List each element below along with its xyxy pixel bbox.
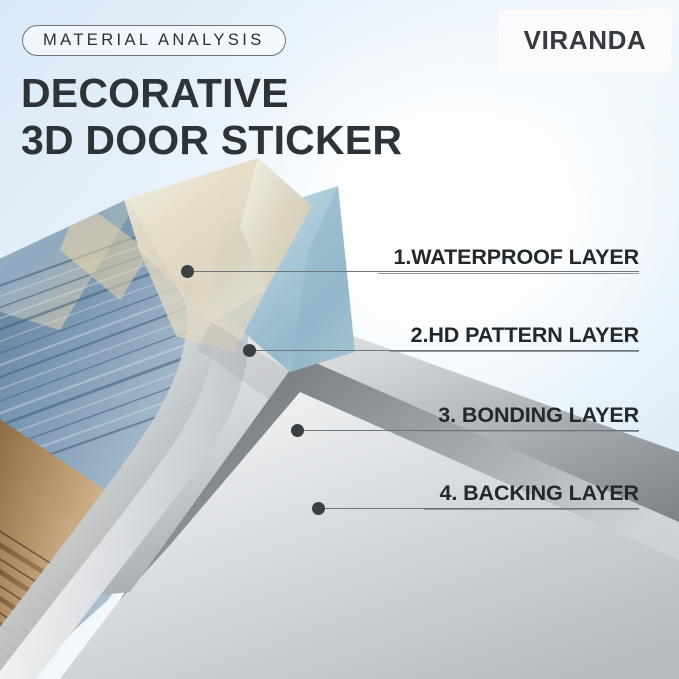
brand-logo: VIRANDA — [500, 11, 670, 70]
callout-rule-4 — [424, 509, 639, 510]
callout-rule-2 — [390, 351, 639, 352]
callout-label-3: 3. BONDING LAYER — [438, 403, 639, 428]
callout-rule-3 — [416, 431, 639, 432]
eyebrow-badge: MATERIAL ANALYSIS — [22, 25, 286, 56]
callout-waterproof-layer: 1.WATERPROOF LAYER — [378, 240, 639, 274]
leader-line-4 — [325, 508, 639, 509]
callout-hd-pattern-layer: 2.HD PATTERN LAYER — [390, 318, 639, 352]
leader-line-3 — [304, 430, 639, 431]
poster-canvas: MATERIAL ANALYSIS DECORATIVE 3D DOOR STI… — [0, 0, 679, 679]
brand-name: VIRANDA — [524, 25, 647, 56]
leader-line-1 — [193, 271, 639, 272]
callout-dot-3 — [291, 424, 304, 437]
callout-label-1: 1.WATERPROOF LAYER — [394, 245, 639, 270]
callout-bonding-layer: 3. BONDING LAYER — [416, 398, 639, 432]
callout-dot-1 — [181, 265, 194, 278]
callout-label-2: 2.HD PATTERN LAYER — [411, 323, 639, 348]
callout-label-4: 4. BACKING LAYER — [439, 481, 639, 506]
leader-line-2 — [256, 350, 639, 351]
callout-rule-1 — [378, 273, 639, 274]
callout-backing-layer: 4. BACKING LAYER — [424, 476, 639, 510]
callout-dot-2 — [243, 344, 256, 357]
callout-dot-4 — [312, 502, 325, 515]
page-title: DECORATIVE 3D DOOR STICKER — [21, 70, 541, 164]
